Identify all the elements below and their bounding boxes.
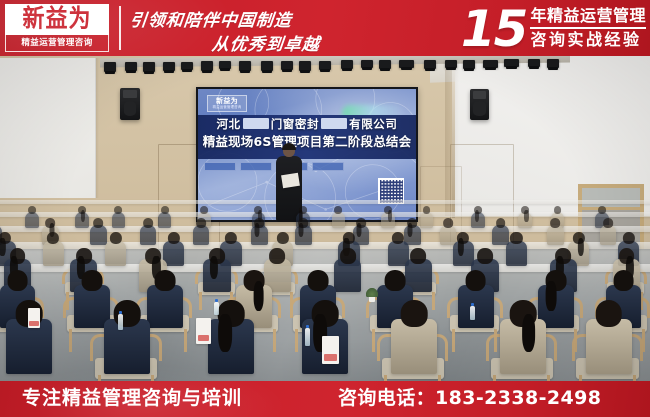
audience-member (600, 218, 617, 245)
audience-member (104, 300, 150, 374)
audience-head (196, 218, 206, 228)
audience-member (43, 232, 64, 266)
audience-member (334, 248, 361, 292)
ceiling-spotlight (299, 61, 311, 71)
audience-member (75, 206, 89, 228)
audience-member (193, 218, 210, 245)
audience-ponytail (475, 210, 479, 221)
audience-ponytail (255, 223, 260, 237)
tissue-box (28, 308, 40, 328)
ceiling-spotlight (504, 59, 519, 67)
audience-head (143, 218, 153, 228)
ceiling-spotlight (424, 60, 436, 69)
header-slogan: 引领和陪伴中国制造 从优秀到卓越 (130, 5, 380, 53)
ceiling-spotlight (547, 59, 559, 68)
slide-title-line-2: 精益现场6S管理项目第二阶段总结会 (198, 136, 416, 149)
tissue-box (196, 318, 211, 344)
slogan-line-2: 从优秀到卓越 (211, 30, 322, 55)
chair-leg (273, 329, 276, 352)
wall-speaker-right (470, 89, 489, 120)
conference-photo: 新益为 精益运营管理咨询 河北门窗密封有限公司 精益现场6S管理项目第二阶段总结… (0, 56, 650, 381)
experience-badge: 15 年精益运营管理 咨询实战经验 (461, 2, 646, 54)
water-bottle (214, 302, 219, 315)
audience-head (155, 270, 176, 291)
audience-member (391, 300, 437, 374)
audience-head (334, 206, 342, 214)
audience-head (7, 270, 28, 291)
audience-body (334, 259, 361, 292)
audience-member (90, 218, 107, 245)
logo-tagline: 精益运营管理咨询 (21, 39, 92, 48)
audience-member (586, 300, 632, 374)
audience-body (547, 225, 564, 245)
audience-member (158, 206, 172, 228)
slide-chip (204, 162, 236, 171)
footer-slogan: 专注精益管理咨询与培训 (22, 388, 242, 410)
audience-member (140, 218, 157, 245)
audience-body (112, 212, 126, 228)
audience-body (104, 319, 150, 374)
ceiling-spotlight (143, 62, 155, 72)
presenter-hair (282, 143, 296, 150)
redaction-block (243, 118, 269, 129)
ceiling-spotlight (219, 61, 231, 69)
audience-head (114, 206, 122, 214)
ceiling-spotlight (239, 61, 251, 71)
ceiling-spotlight (261, 61, 273, 71)
water-bottle (470, 306, 475, 320)
audience-member (518, 206, 532, 228)
audience-body (43, 241, 64, 266)
audience-ponytail (253, 281, 264, 311)
wall-speaker-left (120, 88, 140, 120)
audience-head (595, 300, 622, 327)
slide-sub-chips (204, 162, 344, 171)
slide-company-prefix: 河北 (216, 117, 240, 131)
audience-ponytail (457, 238, 463, 256)
audience-head (28, 206, 36, 214)
header-divider (119, 6, 121, 50)
audience-member (251, 218, 268, 245)
audience-body (332, 212, 346, 228)
audience-head (401, 300, 428, 327)
audience-head (93, 218, 103, 228)
logo-name: 新益为 (22, 7, 91, 32)
audience-member (105, 232, 126, 266)
audience-head (47, 232, 59, 244)
audience-ponytail (299, 223, 304, 237)
audience-head (623, 232, 635, 244)
ceiling-spotlight (104, 62, 116, 72)
audience-body (105, 241, 126, 266)
audience-body (147, 285, 183, 328)
audience-head (269, 248, 285, 264)
slide-company-mid: 门窗密封 (271, 117, 319, 131)
audience-body (420, 212, 434, 228)
audience-head (340, 248, 356, 264)
audience-ponytail (81, 210, 85, 221)
audience-head (161, 206, 169, 214)
audience-head (510, 232, 522, 244)
audience-head (598, 206, 606, 214)
audience-member (295, 218, 312, 245)
ceiling-spotlight (341, 60, 353, 69)
header-banner: 新益为 精益运营管理咨询 引领和陪伴中国制造 从优秀到卓越 15 年精益运营管理… (0, 0, 650, 56)
audience-head (496, 218, 506, 228)
ceiling-spotlight (361, 60, 373, 68)
slide-company-suffix: 有限公司 (349, 117, 397, 131)
footer-banner: 专注精益管理咨询与培训 咨询电话：183-2338-2498 (0, 381, 650, 417)
audience-head (554, 206, 562, 214)
ceiling-spotlight (445, 60, 457, 68)
chair-leg (452, 329, 455, 352)
chair-leg (184, 329, 187, 352)
audience-body (600, 225, 617, 245)
years-number: 15 (461, 4, 527, 54)
door-transom-glass (582, 188, 640, 210)
audience-body (90, 225, 107, 245)
ceiling-spotlight (483, 60, 498, 68)
slide-title-line-1: 河北门窗密封有限公司 (198, 118, 416, 131)
audience-body (25, 212, 39, 228)
slide-logo-tagline: 精益运营管理咨询 (213, 106, 242, 109)
ceiling-spotlight (379, 60, 391, 69)
ceiling-spotlight (125, 62, 137, 71)
ceiling-spotlight (399, 60, 414, 68)
company-logo: 新益为 精益运营管理咨询 (5, 4, 109, 52)
audience-member (147, 270, 183, 328)
audience-ponytail (524, 210, 528, 221)
ceiling-spotlight (163, 62, 175, 71)
audience-head (410, 248, 426, 264)
slide-logo: 新益为 精益运营管理咨询 (207, 95, 247, 112)
audience-ponytail (388, 210, 392, 221)
audience-head (477, 248, 493, 264)
years-text: 年精益运营管理 咨询实战经验 (530, 6, 646, 51)
water-bottle (305, 328, 310, 346)
audience-body (158, 212, 172, 228)
audience-member (500, 300, 546, 374)
audience-head (277, 232, 289, 244)
audience-ponytail (522, 314, 536, 353)
audience-member (506, 232, 527, 266)
ceiling-spotlight (463, 60, 475, 69)
audience-body (391, 319, 437, 374)
audience-body (458, 285, 494, 328)
slide-chip (312, 162, 344, 171)
redaction-block (321, 118, 347, 129)
audience-member (332, 206, 346, 228)
audience-member (381, 206, 395, 228)
audience-body (506, 241, 527, 266)
ceiling-spotlight (528, 59, 540, 67)
audience-member (471, 206, 485, 228)
audience-member (203, 248, 230, 292)
audience-head (613, 270, 634, 291)
ceiling-spotlight (181, 62, 193, 70)
audience-body (586, 319, 632, 374)
slogan-line-1: 引领和陪伴中国制造 (129, 6, 294, 31)
logo-mark: 新益为 (5, 4, 109, 35)
audience-body (140, 225, 157, 245)
years-line-1: 年精益运营管理 (530, 6, 646, 26)
ceiling-spotlight (201, 61, 213, 71)
audience-head (603, 218, 613, 228)
ceiling-spotlight (281, 61, 293, 70)
audience-head (550, 218, 560, 228)
conference-table (0, 200, 650, 204)
audience-ponytail (578, 238, 584, 256)
slide-logo-name: 新益为 (216, 98, 238, 105)
presenter-document (281, 173, 300, 188)
audience-head (385, 270, 406, 291)
logo-tagline-wrap: 精益运营管理咨询 (5, 36, 109, 50)
audience-head (443, 218, 453, 228)
audience-ponytail (210, 256, 218, 279)
audience-body (193, 225, 210, 245)
table-plant (366, 288, 378, 302)
promo-image: 新益为 精益运营管理咨询 引领和陪伴中国制造 从优秀到卓越 15 年精益运营管理… (0, 0, 650, 417)
chair-leg (69, 329, 72, 352)
chair-leg (295, 329, 298, 352)
audience-head (168, 232, 180, 244)
years-rule (530, 27, 646, 29)
audience-head (110, 232, 122, 244)
ceiling-spotlight (319, 61, 331, 70)
audience-ponytail (546, 281, 557, 311)
audience-member (112, 206, 126, 228)
audience-member (420, 206, 434, 228)
years-line-2: 咨询实战经验 (530, 30, 646, 50)
audience-member (458, 270, 494, 328)
audience-member (547, 218, 564, 245)
tissue-box (322, 336, 339, 364)
audience-member (25, 206, 39, 228)
audience-head (423, 206, 431, 214)
water-bottle (118, 314, 123, 330)
chair-leg (199, 292, 202, 310)
slide-chip (240, 162, 272, 171)
audience-head (200, 206, 208, 214)
audience-head (465, 270, 486, 291)
footer-phone: 咨询电话：183-2338-2498 (338, 388, 601, 410)
audience-head (225, 232, 237, 244)
audience-head (308, 270, 329, 291)
audience-head (82, 270, 103, 291)
left-white-wall (0, 58, 96, 198)
audience-head (392, 232, 404, 244)
audience-ponytail (219, 314, 233, 353)
chair-leg (372, 329, 375, 352)
